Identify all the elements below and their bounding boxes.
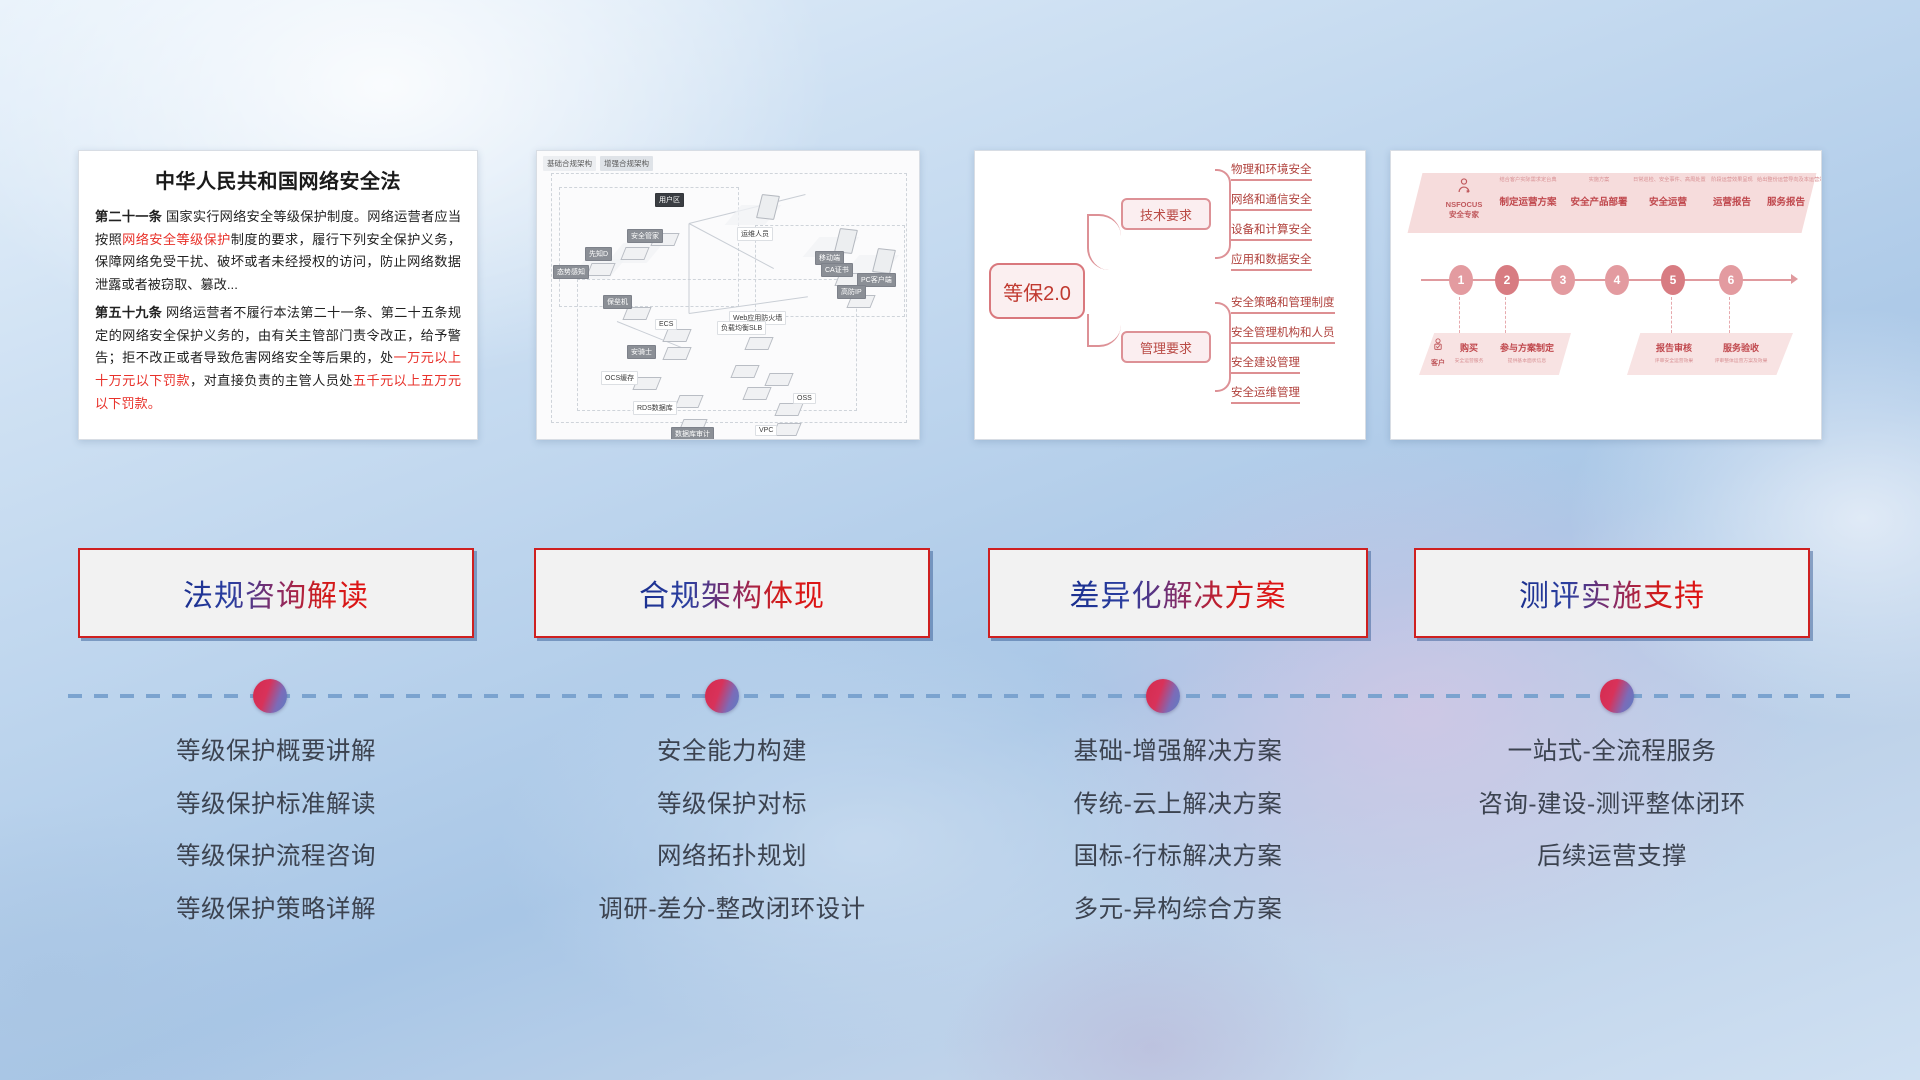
- cust-item-3-title: 报告审核: [1643, 341, 1705, 354]
- nsfocus-phase-5: 给出整份运营导向及本运营效果 服务报告: [1757, 177, 1815, 208]
- timeline-dot-4[interactable]: [1600, 679, 1634, 713]
- cust-item-3-sub: 评审安全运营效果: [1643, 357, 1705, 364]
- mindmap-root-node: 等保2.0: [989, 263, 1085, 319]
- timeline-dashed-line: [68, 694, 1854, 698]
- article21-highlight: 网络安全等级保护: [122, 232, 231, 247]
- label-user-zone: 用户区: [655, 193, 684, 207]
- nsfocus-step-3: 3: [1551, 265, 1575, 295]
- feature-list-row: 等级保护概要讲解 等级保护标准解读 等级保护流程咨询 等级保护策略详解 安全能力…: [0, 740, 1920, 970]
- label-ocs: OCS缓存: [601, 371, 638, 385]
- nsfocus-cust-item-1: 购买 安全运营服务: [1447, 341, 1491, 364]
- label-baolei: 保垒机: [603, 295, 632, 309]
- list-item: 多元-异构综合方案: [988, 898, 1368, 923]
- label-rds: RDS数据库: [633, 401, 677, 415]
- list-item: 等级保护标准解读: [78, 793, 474, 818]
- feature-list-3: 基础-增强解决方案 传统-云上解决方案 国标-行标解决方案 多元-异构综合方案: [988, 740, 1368, 950]
- phase-4-main: 运营报告: [1703, 194, 1761, 208]
- list-item: 等级保护策略详解: [78, 898, 474, 923]
- topology-tabs[interactable]: 基础合规架构 增强合规架构: [543, 156, 653, 171]
- mindmap-branch-tech: 技术要求: [1121, 198, 1211, 230]
- mindmap-leaf-m2: 安全管理机构和人员: [1231, 324, 1335, 344]
- list-item: 等级保护概要讲解: [78, 740, 474, 765]
- list-item: 国标-行标解决方案: [988, 845, 1368, 870]
- banner-differentiated-solution[interactable]: 差异化解决方案: [988, 548, 1368, 638]
- mindmap-curve-t1: [1215, 169, 1231, 214]
- article59-part2: ，对直接负责的主管人员处: [190, 373, 353, 388]
- expert-person-icon: [1455, 177, 1473, 195]
- mindmap-curve-mgmt: [1087, 314, 1121, 347]
- mindmap-leaf-m4: 安全运维管理: [1231, 384, 1300, 404]
- phase-5-main: 服务报告: [1757, 194, 1815, 208]
- nsfocus-phase-3: 日常巡检、安全事件、高周处置 安全运营: [1633, 177, 1703, 208]
- mindmap-leaf-t2: 网络和通信安全: [1231, 191, 1312, 211]
- banner-compliance-architecture[interactable]: 合规架构体现: [534, 548, 930, 638]
- feature-list-1: 等级保护概要讲解 等级保护标准解读 等级保护流程咨询 等级保护策略详解: [78, 740, 474, 950]
- article59-label: 第五十九条: [95, 305, 162, 320]
- nsfocus-cust-item-3: 报告审核 评审安全运营效果: [1643, 341, 1705, 364]
- label-xianzhi: 先知D: [585, 247, 612, 261]
- nsfocus-phase-1: 结合客户实际需求定台典 制定运营方案: [1491, 177, 1565, 208]
- phase-5-sub: 给出整份运营导向及本运营效果: [1757, 177, 1815, 184]
- phase-3-main: 安全运营: [1633, 194, 1703, 208]
- topology-diagram: 基础合规架构 增强合规架构: [537, 151, 919, 439]
- cust-item-1-sub: 安全运营服务: [1447, 357, 1491, 364]
- phase-3-sub: 日常巡检、安全事件、高周处置: [1633, 177, 1703, 184]
- cust-item-1-title: 购买: [1447, 341, 1491, 354]
- law-document: 中华人民共和国网络安全法 第二十一条 国家实行网络安全等级保护制度。网络运营者应…: [79, 151, 477, 425]
- nsfocus-step-5: 5: [1661, 265, 1685, 295]
- cust-item-2-sub: 提供基本面状信息: [1489, 357, 1565, 364]
- nsfocus-cust-item-4: 服务验收 评审整体运营方案及效果: [1707, 341, 1775, 364]
- label-ecs: ECS: [655, 319, 677, 330]
- label-anqishi: 安骑士: [627, 345, 656, 359]
- banner-4-label: 测评实施支持: [1519, 571, 1705, 615]
- label-vpc: VPC: [755, 425, 777, 436]
- list-item: 一站式-全流程服务: [1414, 740, 1810, 765]
- banner-2-label: 合规架构体现: [639, 571, 825, 615]
- mindmap-branch-mgmt: 管理要求: [1121, 331, 1211, 363]
- topology-tab-enhanced[interactable]: 增强合规架构: [600, 156, 653, 171]
- nsfocus-stem-6: [1729, 297, 1730, 333]
- list-item: 传统-云上解决方案: [988, 793, 1368, 818]
- feature-list-2: 安全能力构建 等级保护对标 网络拓扑规划 调研-差分-整改闭环设计: [534, 740, 930, 950]
- mindmap-curve-m1: [1215, 302, 1231, 347]
- label-gaofangip: 高防IP: [837, 285, 866, 299]
- label-ca: CA证书: [821, 263, 853, 277]
- title-banner-row: 法规咨询解读 合规架构体现 差异化解决方案 测评实施支持: [0, 548, 1920, 640]
- customer-person-icon: [1431, 337, 1445, 353]
- banner-regulation-consulting[interactable]: 法规咨询解读: [78, 548, 474, 638]
- banner-3-label: 差异化解决方案: [1070, 571, 1287, 615]
- article21-label: 第二十一条: [95, 209, 162, 224]
- phase-1-main: 制定运营方案: [1491, 194, 1565, 208]
- nsfocus-axis-arrow: [1791, 274, 1798, 284]
- law-title: 中华人民共和国网络安全法: [95, 165, 461, 194]
- list-item: 调研-差分-整改闭环设计: [534, 898, 930, 923]
- label-anquanguanjia: 安全管家: [627, 229, 663, 243]
- timeline-dot-2[interactable]: [705, 679, 739, 713]
- list-item: 等级保护对标: [534, 793, 930, 818]
- nsfocus-stem-1: [1459, 297, 1460, 333]
- nsfocus-cust-item-2: 参与方案制定 提供基本面状信息: [1489, 341, 1565, 364]
- label-slb: 负载均衡SLB: [717, 321, 766, 335]
- phase-4-sub: 阶段运营效果呈现: [1703, 177, 1761, 184]
- nsfocus-step-1: 1: [1449, 265, 1473, 295]
- label-ops-staff: 运维人员: [737, 227, 773, 241]
- card-network-topology[interactable]: 基础合规架构 增强合规架构: [536, 150, 920, 440]
- card-mindmap[interactable]: 等保2.0 技术要求 管理要求 物理和环境安全 网络和通信安全 设备和计算安全 …: [974, 150, 1366, 440]
- topo-link-3: [689, 224, 690, 314]
- nsfocus-diagram: NSFOCUS 安全专家 结合客户实际需求定台典 制定运营方案 实施方案 安全产…: [1391, 151, 1821, 439]
- banner-1-label: 法规咨询解读: [183, 571, 369, 615]
- nsfocus-stem-2: [1505, 297, 1506, 333]
- phase-2-sub: 实施方案: [1565, 177, 1633, 184]
- expert-name-line1: NSFOCUS: [1437, 200, 1491, 210]
- list-item: 后续运营支撑: [1414, 845, 1810, 870]
- label-shitai: 态势感知: [553, 265, 589, 279]
- cust-item-2-title: 参与方案制定: [1489, 341, 1565, 354]
- list-item: 咨询-建设-测评整体闭环: [1414, 793, 1810, 818]
- label-oss: OSS: [793, 393, 816, 404]
- nsfocus-step-2: 2: [1495, 265, 1519, 295]
- phase-2-main: 安全产品部署: [1565, 194, 1633, 208]
- phase-1-sub: 结合客户实际需求定台典: [1491, 177, 1565, 184]
- expert-name-line2: 安全专家: [1437, 210, 1491, 220]
- mindmap-curve-tech: [1087, 214, 1121, 270]
- list-item: 等级保护流程咨询: [78, 845, 474, 870]
- card-law-text[interactable]: 中华人民共和国网络安全法 第二十一条 国家实行网络安全等级保护制度。网络运营者应…: [78, 150, 478, 440]
- timeline-dot-3[interactable]: [1146, 679, 1180, 713]
- topology-tab-basic[interactable]: 基础合规架构: [543, 156, 596, 171]
- nsfocus-phase-2: 实施方案 安全产品部署: [1565, 177, 1633, 208]
- timeline-dot-1[interactable]: [253, 679, 287, 713]
- mindmap-curve-m2: [1215, 347, 1231, 392]
- screenshot-card-row: 中华人民共和国网络安全法 第二十一条 国家实行网络安全等级保护制度。网络运营者应…: [0, 150, 1920, 450]
- nsfocus-step-4: 4: [1605, 265, 1629, 295]
- nsfocus-expert: NSFOCUS 安全专家: [1437, 177, 1491, 220]
- law-article-59: 第五十九条 网络运营者不履行本法第二十一条、第二十五条规定的网络安全保护义务的，…: [95, 302, 461, 416]
- mindmap-leaf-m3: 安全建设管理: [1231, 354, 1300, 374]
- mindmap-leaf-m1: 安全策略和管理制度: [1231, 294, 1335, 314]
- list-item: 基础-增强解决方案: [988, 740, 1368, 765]
- nsfocus-step-6: 6: [1719, 265, 1743, 295]
- mindmap-leaf-t1: 物理和环境安全: [1231, 161, 1312, 181]
- banner-assessment-support[interactable]: 测评实施支持: [1414, 548, 1810, 638]
- cust-item-4-title: 服务验收: [1707, 341, 1775, 354]
- list-item: 安全能力构建: [534, 740, 930, 765]
- cust-item-4-sub: 评审整体运营方案及效果: [1707, 357, 1775, 364]
- nsfocus-phase-4: 阶段运营效果呈现 运营报告: [1703, 177, 1761, 208]
- mindmap-diagram: 等保2.0 技术要求 管理要求 物理和环境安全 网络和通信安全 设备和计算安全 …: [975, 151, 1365, 439]
- feature-list-4: 一站式-全流程服务 咨询-建设-测评整体闭环 后续运营支撑: [1414, 740, 1810, 898]
- mindmap-leaf-t3: 设备和计算安全: [1231, 221, 1312, 241]
- label-db-audit: 数据库审计: [671, 427, 714, 440]
- list-item: 网络拓扑规划: [534, 845, 930, 870]
- law-article-21: 第二十一条 国家实行网络安全等级保护制度。网络运营者应当按照网络安全等级保护制度…: [95, 206, 461, 297]
- mindmap-leaf-t4: 应用和数据安全: [1231, 251, 1312, 271]
- card-nsfocus-timeline[interactable]: NSFOCUS 安全专家 结合客户实际需求定台典 制定运营方案 实施方案 安全产…: [1390, 150, 1822, 440]
- mindmap-curve-t2: [1215, 214, 1231, 259]
- nsfocus-stem-5: [1671, 297, 1672, 333]
